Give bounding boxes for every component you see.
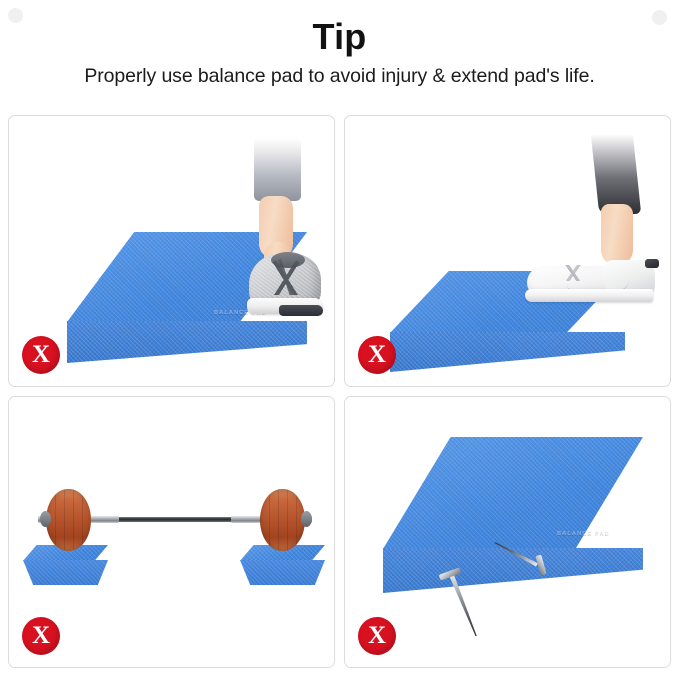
page-subtitle: Properly use balance pad to avoid injury…	[0, 65, 679, 88]
weight-plate-left	[46, 489, 91, 551]
panel-grid: BALANCE PAD X	[8, 115, 671, 668]
page-title: Tip	[0, 18, 679, 56]
badge-symbol: X	[32, 623, 50, 648]
panel-incorrect-heavy-weights: X	[8, 396, 335, 668]
pad-front-face-right	[240, 560, 325, 585]
shoe-laces	[551, 265, 595, 281]
sneaker-heel-tab	[645, 259, 659, 268]
shoe-tongue-collar	[271, 252, 305, 268]
nail-left	[441, 569, 501, 639]
pad-brand-embossing: BALANCE PAD	[557, 531, 610, 537]
status-badge-incorrect: X	[358, 617, 396, 655]
pad-front-face-left	[23, 560, 108, 585]
badge-symbol: X	[368, 342, 386, 367]
weight-plate-right	[260, 489, 305, 551]
pad-front-face	[67, 321, 307, 363]
status-badge-incorrect: X	[22, 617, 60, 655]
pant-leg	[254, 138, 301, 201]
pad-front-face	[390, 332, 625, 372]
weight-plate-left-collar	[40, 511, 51, 527]
shoe-outsole-dark	[279, 305, 323, 316]
badge-symbol: X	[368, 623, 386, 648]
nail-right	[535, 565, 595, 605]
nail-left-shank	[449, 574, 478, 637]
panel-incorrect-sharp-objects: BALANCE PAD X	[344, 396, 671, 668]
status-badge-incorrect: X	[358, 336, 396, 374]
header: Tip Properly use balance pad to avoid in…	[0, 0, 679, 88]
pad-front-face	[383, 548, 643, 593]
badge-symbol: X	[32, 342, 50, 367]
white-sneaker	[527, 256, 655, 304]
grey-sneaker	[249, 250, 321, 318]
status-badge-incorrect: X	[22, 336, 60, 374]
pant-leg	[591, 134, 641, 214]
panel-incorrect-foot-off-edge: X	[344, 115, 671, 387]
nail-left-head	[439, 567, 462, 580]
weight-plate-right-collar	[301, 511, 312, 527]
panel-incorrect-step-on-edge: BALANCE PAD X	[8, 115, 335, 387]
shoe-sole	[525, 289, 653, 302]
